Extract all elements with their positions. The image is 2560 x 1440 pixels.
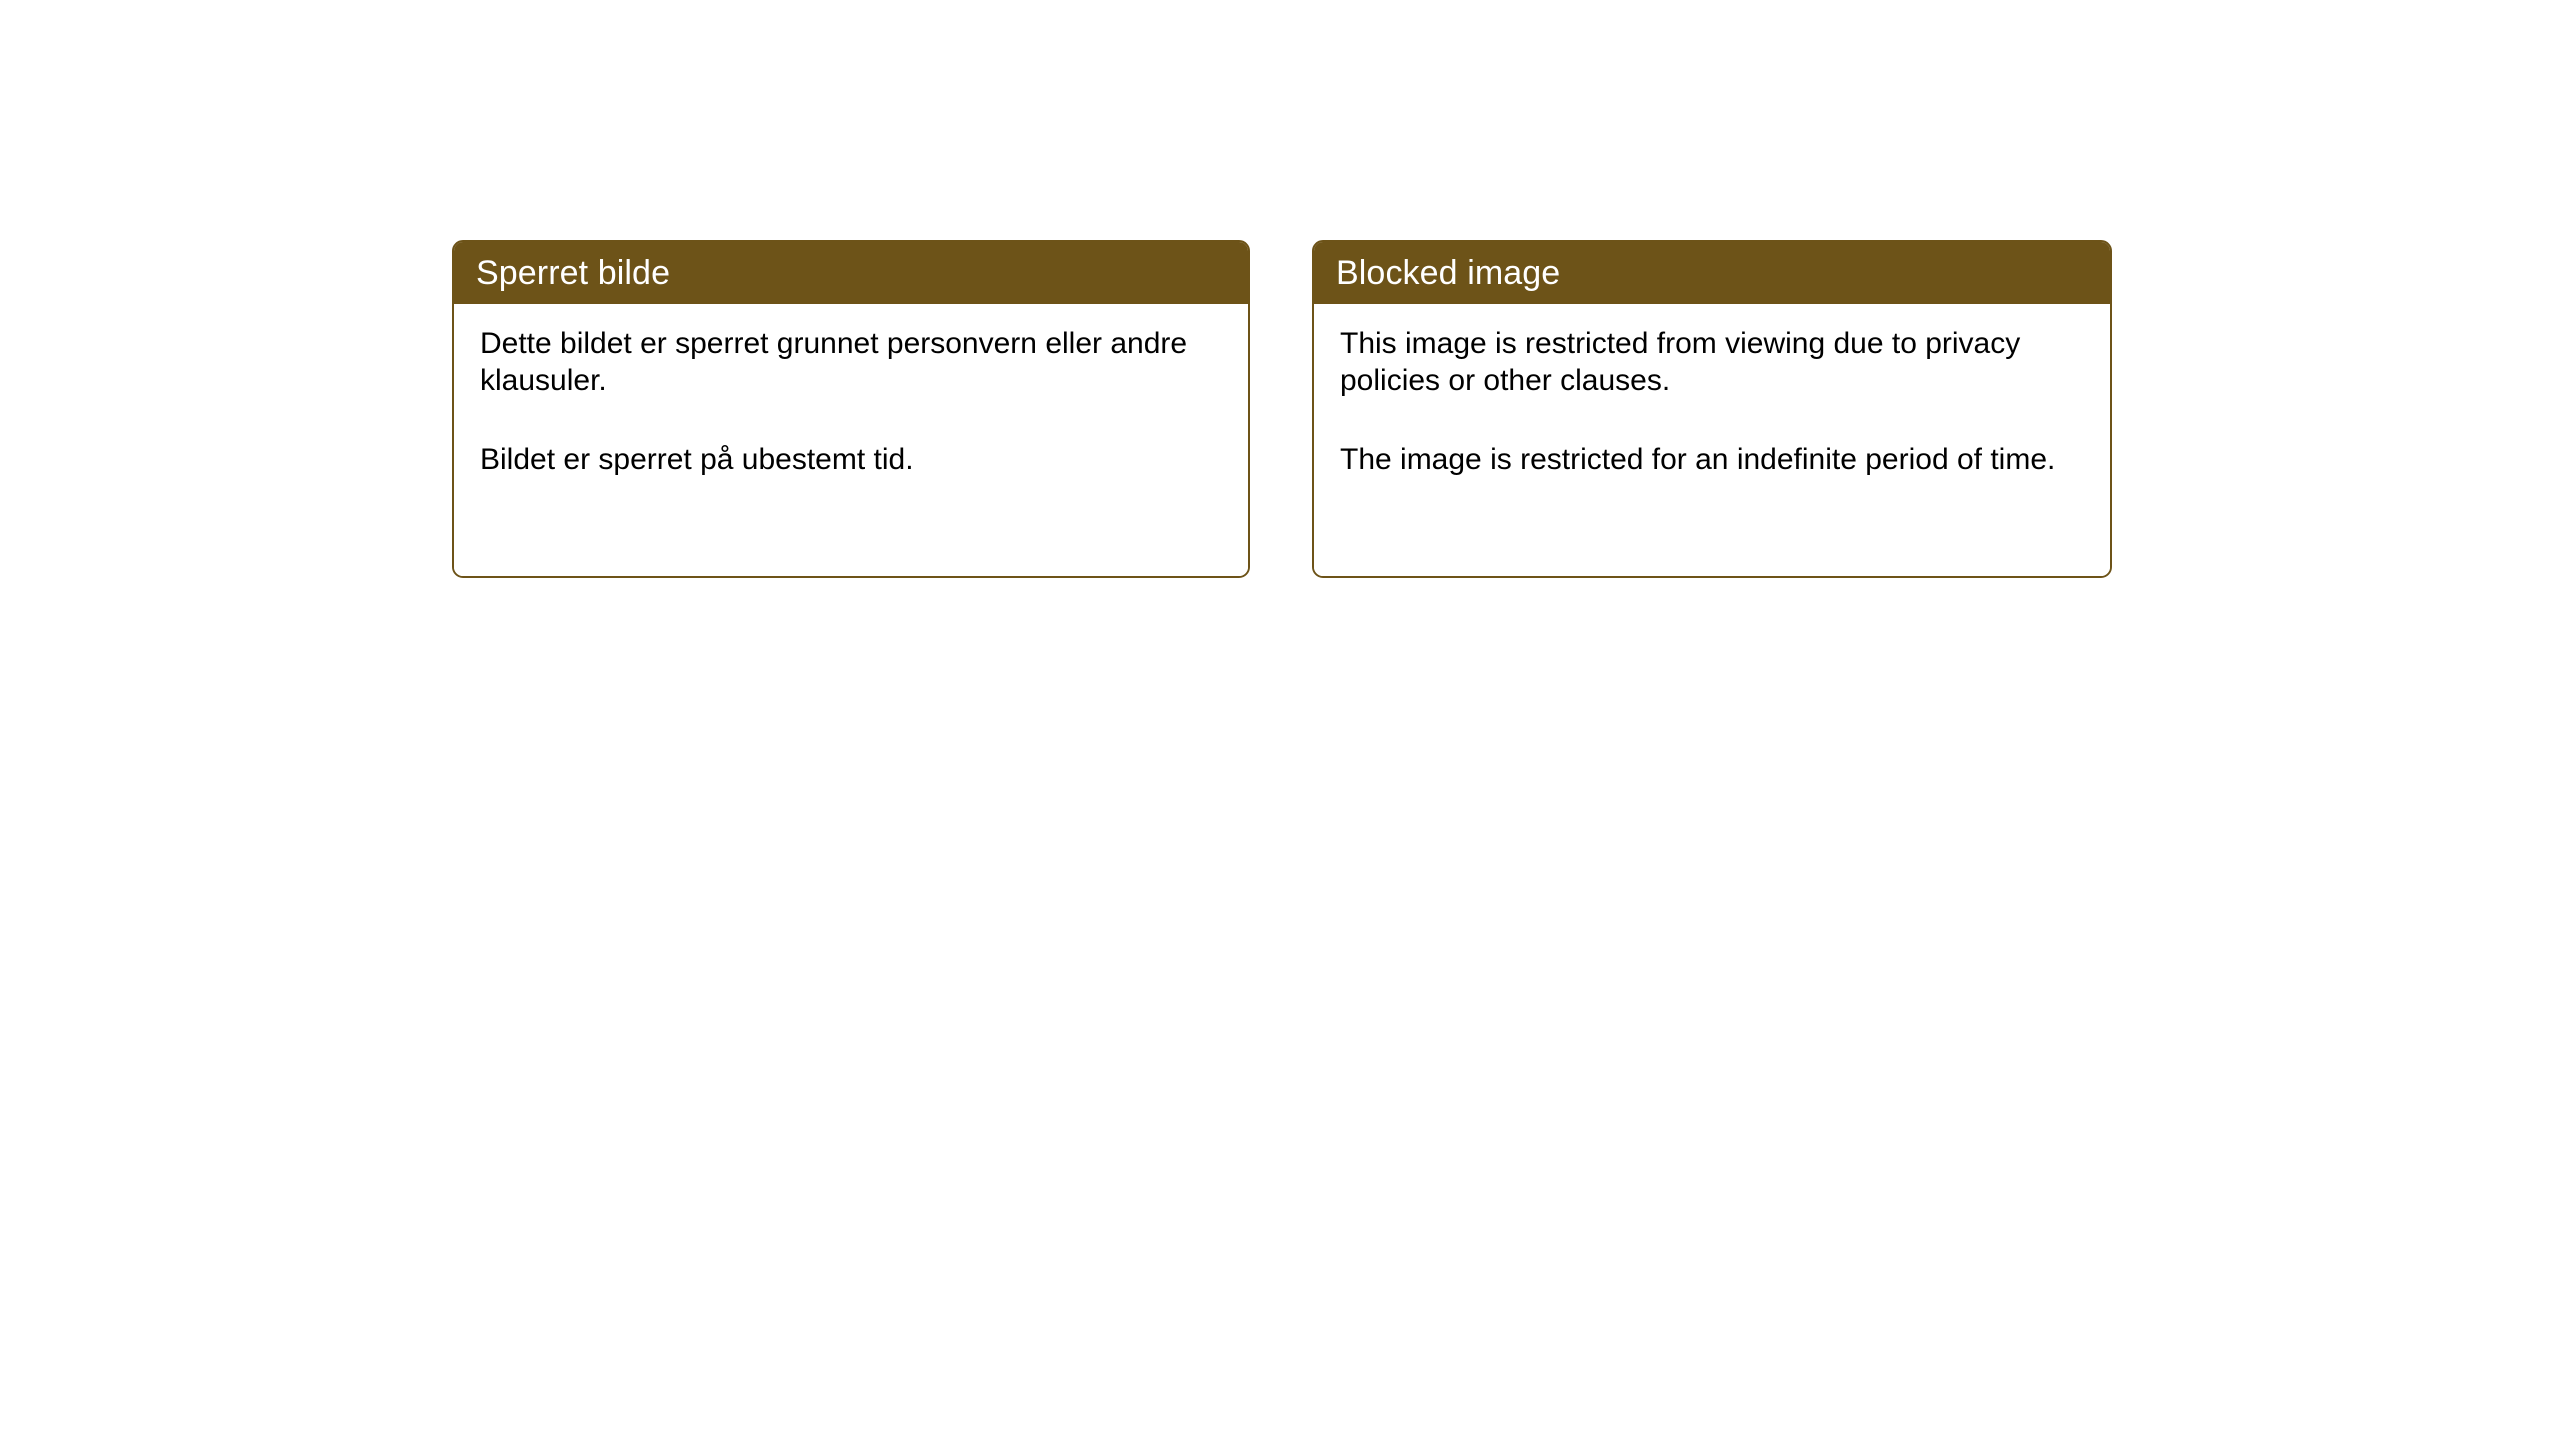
notice-title-nb: Sperret bilde	[476, 256, 670, 290]
notice-title-en: Blocked image	[1336, 256, 1560, 290]
notice-paragraph-secondary-en: The image is restricted for an indefinit…	[1340, 442, 2086, 479]
blocked-image-notices: Sperret bilde Dette bildet er sperret gr…	[452, 240, 2112, 578]
notice-paragraph-primary-nb: Dette bildet er sperret grunnet personve…	[480, 326, 1224, 399]
notice-body-en: This image is restricted from viewing du…	[1314, 304, 2110, 576]
notice-header-nb: Sperret bilde	[454, 242, 1248, 304]
notice-body-nb: Dette bildet er sperret grunnet personve…	[454, 304, 1248, 576]
blocked-image-notice-nb: Sperret bilde Dette bildet er sperret gr…	[452, 240, 1250, 578]
notice-paragraph-primary-en: This image is restricted from viewing du…	[1340, 326, 2086, 399]
notice-header-en: Blocked image	[1314, 242, 2110, 304]
notice-paragraph-secondary-nb: Bildet er sperret på ubestemt tid.	[480, 442, 1224, 479]
blocked-image-notice-en: Blocked image This image is restricted f…	[1312, 240, 2112, 578]
